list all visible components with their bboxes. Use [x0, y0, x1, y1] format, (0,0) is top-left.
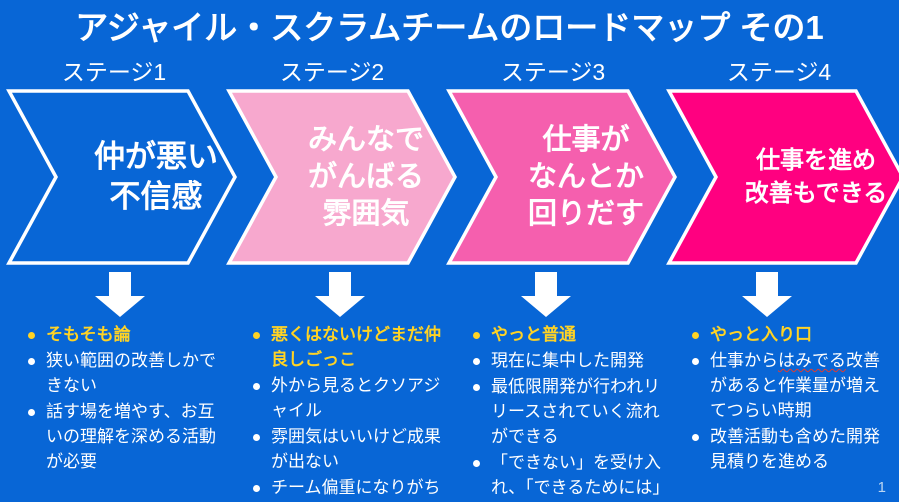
down-arrow-icon-2	[313, 272, 367, 318]
list-item: やっと普通	[473, 322, 665, 347]
bullet-column-3: やっと普通 現在に集中した開発 最低限開発が行われリリースされていく流れができる…	[473, 322, 665, 502]
bullet-dot-icon	[473, 332, 480, 339]
bullet-dot-icon	[253, 434, 260, 441]
bullet-dot-icon	[28, 409, 35, 416]
misspelled-word: はみでる	[778, 351, 846, 370]
bullet-dot-icon	[28, 358, 35, 365]
bullet-text: 現在に集中した開発	[491, 348, 665, 373]
bullet-text: 悪くはないけどまだ仲良しごっこ	[271, 322, 449, 372]
bullet-text: 最低限開発が行われリリースされていく流れができる	[491, 374, 665, 449]
list-item: 狭い範囲の改善しかできない	[28, 348, 218, 398]
bullet-text: やっと普通	[491, 322, 665, 347]
bullet-dot-icon	[692, 434, 699, 441]
list-item: 改善活動も含めた開発見積りを進める	[692, 424, 884, 474]
stage-label-4: ステージ4	[668, 57, 890, 87]
list-item: 最低限開発が行われリリースされていく流れができる	[473, 374, 665, 449]
bullet-dot-icon	[692, 358, 699, 365]
stage-label-1: ステージ1	[8, 57, 220, 87]
bullet-text: 仕事からはみでる改善があると作業量が増えてつらい時期	[710, 348, 884, 423]
bullet-text: やっと入り口	[710, 322, 884, 347]
bullet-dot-icon	[253, 332, 260, 339]
down-arrow-icon-3	[519, 272, 573, 318]
bullet-text: 改善活動も含めた開発見積りを進める	[710, 424, 884, 474]
list-item: 現在に集中した開発	[473, 348, 665, 373]
bullet-text: チーム偏重になりがちで気持ち悪い	[271, 475, 449, 502]
bullet-dot-icon	[473, 384, 480, 391]
bullet-dot-icon	[473, 358, 480, 365]
bullet-column-4: やっと入り口 仕事からはみでる改善があると作業量が増えてつらい時期 改善活動も含…	[692, 322, 884, 475]
down-arrow-icon-4	[740, 272, 794, 318]
list-item: 話す場を増やす、お互いの理解を深める活動が必要	[28, 399, 218, 474]
list-item: 悪くはないけどまだ仲良しごっこ	[253, 322, 449, 372]
bullet-dot-icon	[253, 485, 260, 492]
slide-canvas: アジャイル・スクラムチームのロードマップ その1 ステージ1 ステージ2 ステー…	[0, 0, 899, 502]
bullet-text: 話す場を増やす、お互いの理解を深める活動が必要	[46, 399, 218, 474]
list-item: やっと入り口	[692, 322, 884, 347]
page-number: 1	[878, 479, 886, 497]
stage-label-2: ステージ2	[228, 57, 436, 87]
list-item: 仕事からはみでる改善があると作業量が増えてつらい時期	[692, 348, 884, 423]
bullet-column-2: 悪くはないけどまだ仲良しごっこ 外から見るとクソアジャイル 雰囲気はいいけど成果…	[253, 322, 449, 502]
stage-chevron-3: 仕事が なんとか 回りだす	[446, 88, 678, 266]
stage-chevron-1: 仲が悪い 不信感	[6, 88, 238, 266]
bullet-text: そもそも論	[46, 322, 218, 347]
list-item: 外から見るとクソアジャイル	[253, 373, 449, 423]
stage-label-3: ステージ3	[450, 57, 656, 87]
list-item: そもそも論	[28, 322, 218, 347]
bullet-dot-icon	[28, 332, 35, 339]
down-arrow-icon-1	[93, 272, 147, 318]
list-item: 雰囲気はいいけど成果が出ない	[253, 424, 449, 474]
bullet-text: 狭い範囲の改善しかできない	[46, 348, 218, 398]
stage-chevron-4: 仕事を進め 改善もできる	[666, 88, 899, 266]
bullet-column-1: そもそも論 狭い範囲の改善しかできない 話す場を増やす、お互いの理解を深める活動…	[28, 322, 218, 475]
bullet-text: 「できない」を受け入れ、「できるためには」を考えはじめる	[491, 450, 665, 502]
bullet-dot-icon	[253, 383, 260, 390]
page-title: アジャイル・スクラムチームのロードマップ その1	[0, 6, 899, 50]
bullet-text: 雰囲気はいいけど成果が出ない	[271, 424, 449, 474]
bullet-text: 外から見るとクソアジャイル	[271, 373, 449, 423]
list-item: 「できない」を受け入れ、「できるためには」を考えはじめる	[473, 450, 665, 502]
bullet-dot-icon	[692, 332, 699, 339]
bullet-dot-icon	[473, 460, 480, 467]
list-item: チーム偏重になりがちで気持ち悪い	[253, 475, 449, 502]
stage-chevron-2: みんなで がんばる 雰囲気	[226, 88, 458, 266]
